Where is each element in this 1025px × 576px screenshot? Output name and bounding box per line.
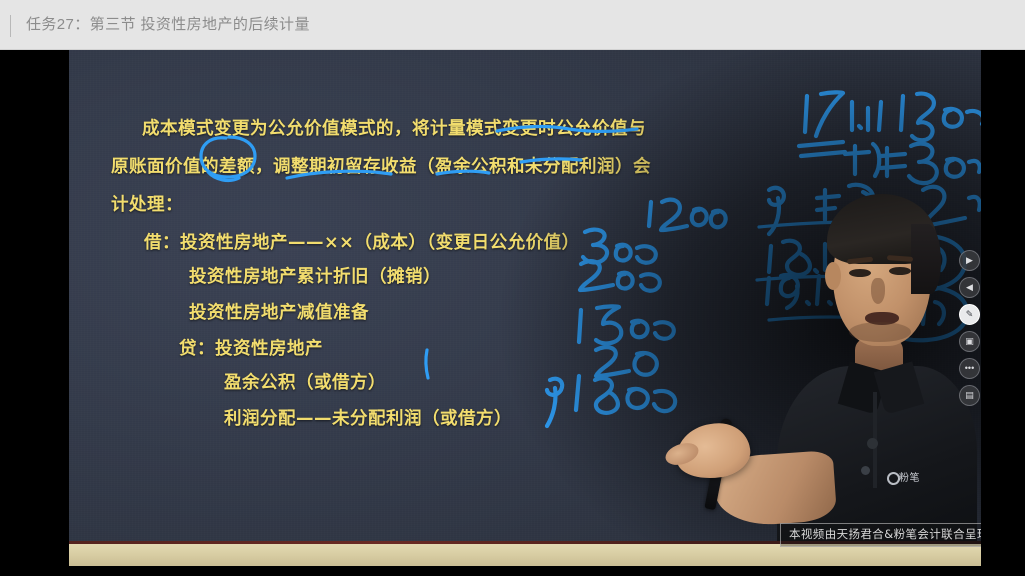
instructor-ear: [825, 262, 841, 290]
more-icon[interactable]: •••: [959, 358, 980, 379]
instructor-eye-right: [889, 267, 911, 275]
instructor-hair-side: [911, 224, 941, 294]
floating-tool-rail[interactable]: ▶◀✎▣•••▤: [958, 250, 981, 406]
instructor-nose: [871, 278, 885, 304]
instructor-chin-shadow: [849, 322, 911, 342]
volume-icon[interactable]: ◀: [959, 277, 980, 298]
pen-icon[interactable]: ✎: [959, 304, 980, 325]
app-root: 任务27：第三节 投资性房地产的后续计量 成本模式变更为公允价值模式的，将计量模…: [0, 0, 1025, 576]
lapel-mic: [861, 466, 870, 475]
page-title: 任务27：第三节 投资性房地产的后续计量: [26, 0, 310, 50]
video-stage[interactable]: 成本模式变更为公允价值模式的，将计量模式变更时公允价值与原账面价值的差额，调整期…: [0, 50, 1025, 576]
screenshot-icon[interactable]: ▤: [959, 385, 980, 406]
video-watermark: 本视频由天扬君合&粉笔会计联合呈现: [780, 523, 981, 547]
play-next-icon[interactable]: ▶: [959, 250, 980, 271]
page-header: 任务27：第三节 投资性房地产的后续计量: [0, 0, 1025, 50]
polo-button: [867, 438, 878, 449]
brand-logo-text: 粉笔: [899, 470, 955, 487]
video-player[interactable]: 成本模式变更为公允价值模式的，将计量模式变更时公允价值与原账面价值的差额，调整期…: [69, 50, 981, 566]
header-divider: [10, 15, 11, 37]
desk-surface: [69, 544, 981, 566]
video-icon[interactable]: ▣: [959, 331, 980, 352]
instructor-eye-left: [849, 269, 871, 277]
